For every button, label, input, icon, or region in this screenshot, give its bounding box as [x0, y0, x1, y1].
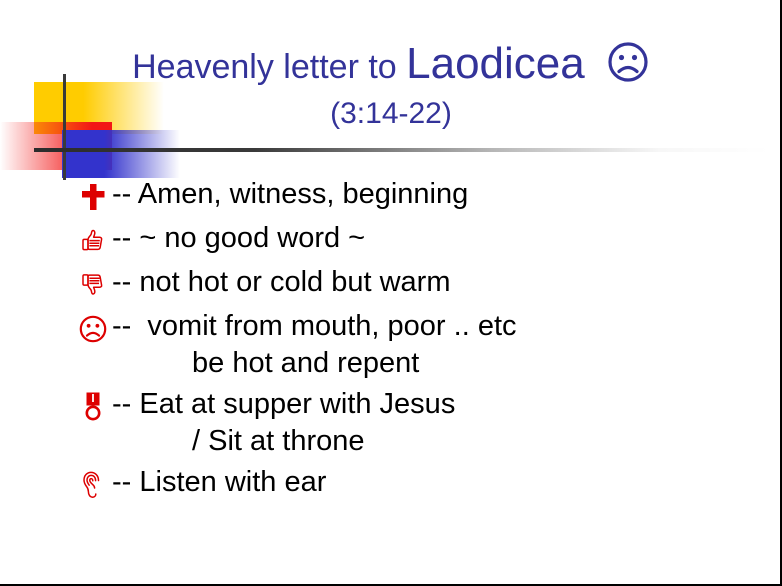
list-item: -- Amen, witness, beginning — [74, 176, 764, 216]
thumbs-up-icon — [74, 222, 112, 260]
title-block: Heavenly letter to Laodicea (3:14-22) — [0, 40, 782, 131]
list-item: -- not hot or cold but warm — [74, 264, 764, 304]
list-item: -- ~ no good word ~ — [74, 220, 764, 260]
blue-square-decoration — [62, 130, 180, 178]
list-item: -- Listen with ear — [74, 464, 764, 504]
ear-icon — [74, 466, 112, 504]
title-text-emphasis: Laodicea — [406, 39, 585, 88]
list-item-label: -- not hot or cold but warm — [112, 264, 450, 301]
list-item-continuation: be hot and repent — [192, 345, 517, 382]
medal-icon — [74, 388, 112, 426]
frowning-face-icon — [74, 310, 112, 348]
frowning-face-icon — [606, 40, 650, 93]
slide: Heavenly letter to Laodicea (3:14-22) — [0, 0, 782, 586]
page-subtitle: (3:14-22) — [0, 97, 782, 131]
title-text-plain: Heavenly letter to — [132, 48, 406, 86]
list-item-label: -- ~ no good word ~ — [112, 220, 365, 257]
horizontal-rule — [34, 148, 769, 152]
page-title: Heavenly letter to Laodicea — [0, 40, 782, 93]
list-item-label: -- Amen, witness, beginning — [112, 176, 468, 213]
list-item-label: -- Listen with ear — [112, 464, 326, 501]
latin-cross-icon — [74, 178, 112, 216]
list-item-continuation: / Sit at throne — [192, 423, 455, 460]
thumbs-down-icon — [74, 266, 112, 304]
list-item-label: -- vomit from mouth, poor .. etc — [112, 308, 517, 345]
bullet-list: -- Amen, witness, beginning -- ~ no good… — [74, 176, 764, 508]
list-item: -- Eat at supper with Jesus / Sit at thr… — [74, 386, 764, 460]
list-item-label: -- Eat at supper with Jesus — [112, 386, 455, 423]
list-item: -- vomit from mouth, poor .. etc be hot … — [74, 308, 764, 382]
